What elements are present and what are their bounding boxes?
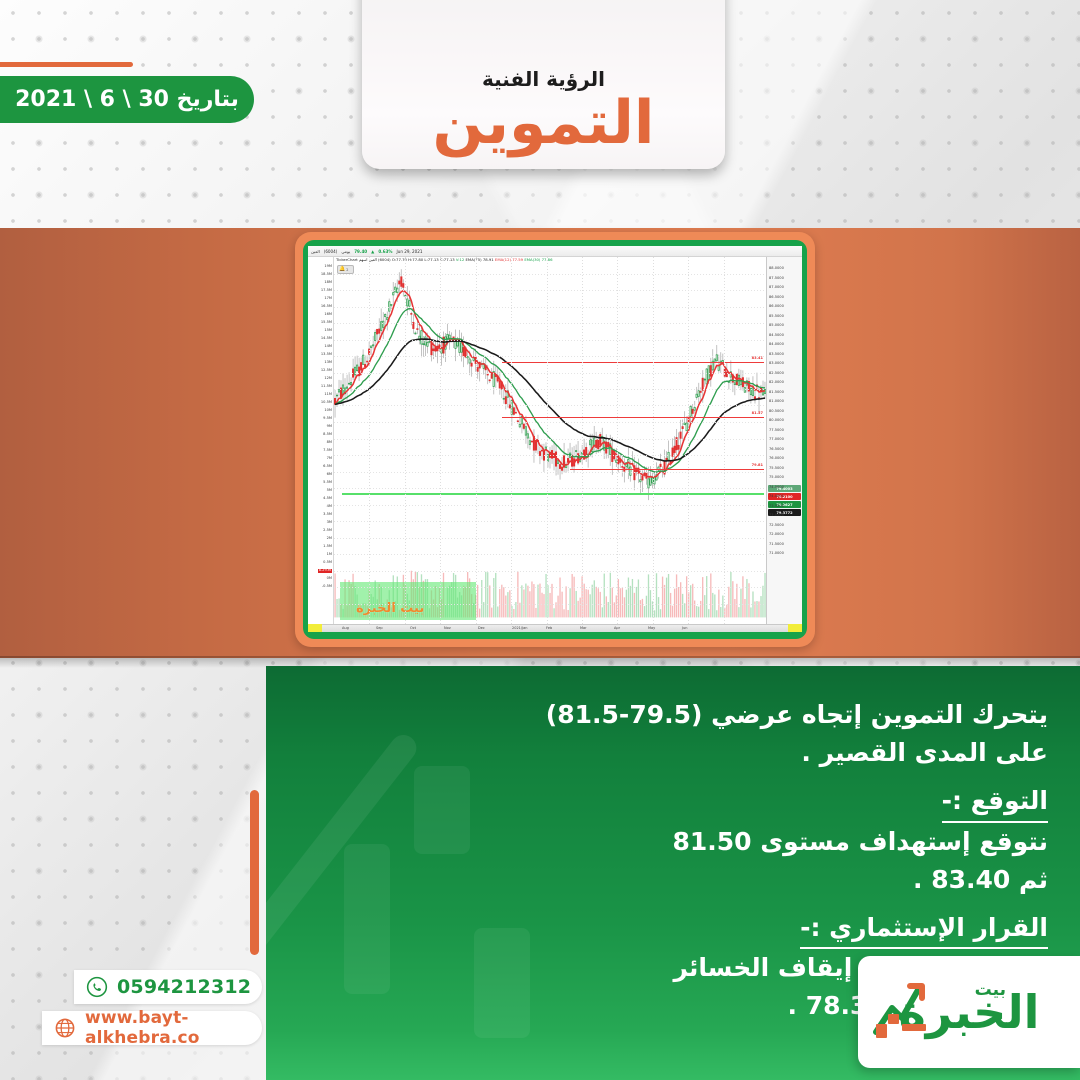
grid-line-horizontal — [334, 323, 766, 324]
left-axis-tick: 1.5M — [323, 545, 332, 549]
right-axis-tick: 81.5000 — [769, 391, 784, 395]
analysis-line-1: يتحرك التموين إتجاه عرضي (79.5-81.5) — [306, 696, 1048, 734]
brand-name-small: بيت — [975, 982, 1006, 999]
grid-line-horizontal — [334, 290, 766, 291]
grid-line-vertical — [653, 257, 654, 632]
date-axis-tick: Mar — [580, 626, 587, 630]
contact-block: 0594212312 www.bayt-alkhebra.co — [0, 970, 262, 1052]
left-axis-tick: 11M — [324, 393, 332, 397]
left-axis-tick: 9.5M — [323, 417, 332, 421]
grid-line-horizontal — [334, 472, 766, 473]
grid-line-vertical — [440, 257, 441, 632]
chart-last-price: 79.40 — [354, 249, 367, 254]
right-axis-tick: 87.0000 — [769, 286, 784, 290]
right-axis-tick: 82.5000 — [769, 372, 784, 376]
grid-line-vertical — [476, 257, 477, 632]
title-card: الرؤية الفنية التموين — [362, 0, 725, 169]
left-axis-tick: 15M — [324, 329, 332, 333]
grid-line-vertical — [617, 257, 618, 632]
right-axis-tick: 72.5000 — [769, 524, 784, 528]
right-axis-tick: 80.5000 — [769, 410, 784, 414]
whatsapp-icon — [86, 976, 108, 998]
grid-line-horizontal — [334, 274, 766, 275]
right-axis-tick: 86.0000 — [769, 305, 784, 309]
right-axis-tick: 76.0000 — [769, 457, 784, 461]
date-axis-tick: Aug — [342, 626, 349, 630]
chart-plot-area[interactable]: TickerChart العين اسهم (6004) O:77.70 H:… — [334, 257, 766, 632]
chart-body: 19M18.5M18M17.5M17M16.5M16M15.5M15M14.5M… — [308, 257, 802, 632]
right-axis-tick: 84.0000 — [769, 343, 784, 347]
date-axis-tick: Feb — [546, 626, 552, 630]
right-axis-tick: 88.0000 — [769, 267, 784, 271]
growth-arrow-icon — [872, 978, 930, 1040]
grid-line-horizontal — [334, 554, 766, 555]
right-axis-tick: 77.0000 — [769, 438, 784, 442]
date-axis-tick: Oct — [410, 626, 416, 630]
left-axis-tick: 3.5M — [323, 513, 332, 517]
date-badge-label: بتاريخ 30 \ 6 \ 2021 — [15, 87, 239, 112]
right-axis-tick: 83.0000 — [769, 362, 784, 366]
globe-icon — [54, 1017, 76, 1039]
left-axis-tick: 14.5M — [321, 337, 332, 341]
left-axis-tick: 2.5M — [323, 529, 332, 533]
left-axis-tick: 6M — [327, 473, 332, 477]
left-axis-tick: 4M — [327, 505, 332, 509]
right-axis-tick: 87.5000 — [769, 277, 784, 281]
grid-line-horizontal — [334, 571, 766, 572]
right-axis-tick: 84.5000 — [769, 334, 784, 338]
forecast-heading: التوقع :- — [942, 782, 1048, 823]
grid-line-horizontal — [334, 405, 766, 406]
chart-date-axis[interactable]: AugSepOctNovDec2021/JanFebMarAprMayJun — [308, 624, 802, 632]
chart-left-axis[interactable]: 19M18.5M18M17.5M17M16.5M16M15.5M15M14.5M… — [308, 257, 334, 632]
left-axis-tick: 17M — [324, 297, 332, 301]
right-axis-tick: 74.5000 — [769, 486, 784, 490]
date-badge: بتاريخ 30 \ 6 \ 2021 — [0, 76, 254, 123]
left-axis-tick: 8.5M — [323, 433, 332, 437]
grid-line-horizontal — [334, 373, 766, 374]
chart-change-arrow-icon: ▲ — [371, 249, 374, 254]
grid-line-horizontal — [334, 389, 766, 390]
left-axis-tick: 9M — [327, 425, 332, 429]
left-axis-tick-extra: 8.29.M — [318, 569, 332, 573]
left-axis-tick: 16.5M — [321, 305, 332, 309]
resistance-line-1[interactable] — [502, 417, 764, 418]
right-axis-tick: 71.0000 — [769, 552, 784, 556]
right-axis-tick: 72.0000 — [769, 533, 784, 537]
resistance-line-near[interactable] — [570, 469, 764, 470]
grid-line-horizontal — [334, 587, 766, 588]
left-axis-tick-extra: -0.5M — [322, 585, 332, 589]
left-axis-tick: 1M — [327, 553, 332, 557]
chart-right-axis[interactable]: 79.4003 79.2100 79.2627 79.3772 88.00008… — [766, 257, 802, 632]
left-axis-tick: 2M — [327, 537, 332, 541]
left-axis-tick: 19M — [324, 265, 332, 269]
right-axis-tick: 81.0000 — [769, 400, 784, 404]
grid-line-horizontal — [334, 439, 766, 440]
forecast-line-1: نتوقع إستهداف مستوى 81.50 — [306, 823, 1048, 861]
chart-toolbar[interactable]: العين (6004) يومي 79.40 ▲ 0.63% Jun 29, … — [308, 246, 802, 257]
chart-timeframe[interactable]: يومي — [341, 249, 350, 254]
page-title: التموين — [433, 92, 655, 155]
date-axis-tick: May — [648, 626, 655, 630]
grid-line-horizontal — [334, 521, 766, 522]
decision-heading-wrap: القرار الإستثماري :- — [306, 899, 1048, 950]
right-axis-tick: 82.0000 — [769, 381, 784, 385]
date-axis-tick: Nov — [444, 626, 451, 630]
date-axis-tick: Jun — [682, 626, 687, 630]
left-axis-tick: 13M — [324, 361, 332, 365]
left-axis-tick: 14M — [324, 345, 332, 349]
left-axis-tick: 6.5M — [323, 465, 332, 469]
grid-line-horizontal — [334, 604, 766, 605]
date-axis-tick: Apr — [614, 626, 620, 630]
date-axis-left-handle[interactable] — [308, 624, 322, 632]
grid-line-vertical — [547, 257, 548, 632]
date-axis-tick: Sep — [376, 626, 383, 630]
left-axis-tick: 8M — [327, 441, 332, 445]
left-axis-tick: 3M — [327, 521, 332, 525]
candlestick-series — [334, 257, 766, 632]
chart-frame-outer: العين (6004) يومي 79.40 ▲ 0.63% Jun 29, … — [295, 232, 815, 647]
forecast-line-2: ثم 83.40 . — [306, 861, 1048, 899]
chart-screenshot[interactable]: العين (6004) يومي 79.40 ▲ 0.63% Jun 29, … — [308, 246, 802, 632]
brand-logo-card[interactable]: بيت الخبرة — [858, 956, 1080, 1068]
left-axis-tick: 12M — [324, 377, 332, 381]
left-axis-tick: 10.5M — [321, 401, 332, 405]
grid-line-vertical — [724, 257, 725, 632]
right-axis-tick: 80.0000 — [769, 419, 784, 423]
resistance-label-1: 81.57 — [752, 411, 763, 415]
resistance-label-near: 79.81 — [752, 463, 763, 467]
left-axis-tick: 10M — [324, 409, 332, 413]
left-axis-tick: 11.5M — [321, 385, 332, 389]
left-axis-tick: 5.5M — [323, 481, 332, 485]
grid-line-horizontal — [334, 340, 766, 341]
grid-line-horizontal — [334, 356, 766, 357]
grid-line-vertical — [582, 257, 583, 632]
left-axis-tick: 12.5M — [321, 369, 332, 373]
grid-line-horizontal — [334, 455, 766, 456]
analysis-line-2: على المدى القصير . — [306, 734, 1048, 772]
grid-line-vertical — [369, 257, 370, 632]
right-axis-tick: 83.5000 — [769, 353, 784, 357]
grid-line-vertical — [511, 257, 512, 632]
date-axis-right-handle[interactable] — [788, 624, 802, 632]
right-axis-tick: 86.5000 — [769, 296, 784, 300]
chart-date: Jun 29, 2021 — [397, 249, 423, 254]
left-axis-tick: 18M — [324, 281, 332, 285]
website-pill[interactable]: www.bayt-alkhebra.co — [42, 1011, 262, 1045]
left-axis-tick: 4.5M — [323, 497, 332, 501]
grid-line-horizontal — [334, 422, 766, 423]
chart-change-pct: 0.63% — [378, 249, 392, 254]
right-axis-tick: 73.0000 — [769, 514, 784, 518]
right-axis-tick: 85.5000 — [769, 315, 784, 319]
orange-vertical-accent — [250, 790, 259, 955]
decision-heading: القرار الإستثماري :- — [800, 909, 1048, 950]
right-axis-tick: 75.5000 — [769, 467, 784, 471]
grid-line-horizontal — [334, 488, 766, 489]
grid-line-horizontal — [334, 538, 766, 539]
resistance-line-2[interactable] — [502, 362, 764, 363]
website-url: www.bayt-alkhebra.co — [85, 1008, 262, 1048]
date-axis-tick: Dec — [478, 626, 485, 630]
left-axis-tick-extra: 0M — [327, 577, 332, 581]
whatsapp-pill[interactable]: 0594212312 — [74, 970, 262, 1004]
grid-line-horizontal — [334, 307, 766, 308]
grid-line-horizontal — [334, 505, 766, 506]
right-axis-tick: 73.5000 — [769, 505, 784, 509]
chart-symbol-name: العين — [311, 249, 320, 254]
right-axis-tick: 75.0000 — [769, 476, 784, 480]
right-axis-tick: 74.0000 — [769, 495, 784, 499]
date-accent-rule — [0, 62, 133, 67]
left-axis-tick: 18.5M — [321, 273, 332, 277]
left-axis-tick: 16M — [324, 313, 332, 317]
left-axis-tick: 15.5M — [321, 321, 332, 325]
chart-frame-green: العين (6004) يومي 79.40 ▲ 0.63% Jun 29, … — [303, 240, 807, 639]
chart-symbol-code: (6004) — [324, 249, 338, 254]
right-axis-tick: 71.5000 — [769, 543, 784, 547]
grid-line-vertical — [688, 257, 689, 632]
left-axis-tick: 17.5M — [321, 289, 332, 293]
right-axis-tick: 76.5000 — [769, 448, 784, 452]
right-axis-tick: 77.5000 — [769, 429, 784, 433]
date-axis-tick: 2021/Jan — [512, 626, 527, 630]
right-axis-tick: 85.0000 — [769, 324, 784, 328]
left-axis-tick: 7M — [327, 457, 332, 461]
left-axis-tick-extra: 0.5M — [323, 561, 332, 565]
forecast-heading-wrap: التوقع :- — [306, 772, 1048, 823]
left-axis-tick: 13.5M — [321, 353, 332, 357]
left-axis-tick: 7.5M — [323, 449, 332, 453]
whatsapp-number: 0594212312 — [117, 976, 251, 998]
grid-line-vertical — [405, 257, 406, 632]
left-axis-tick: 5M — [327, 489, 332, 493]
